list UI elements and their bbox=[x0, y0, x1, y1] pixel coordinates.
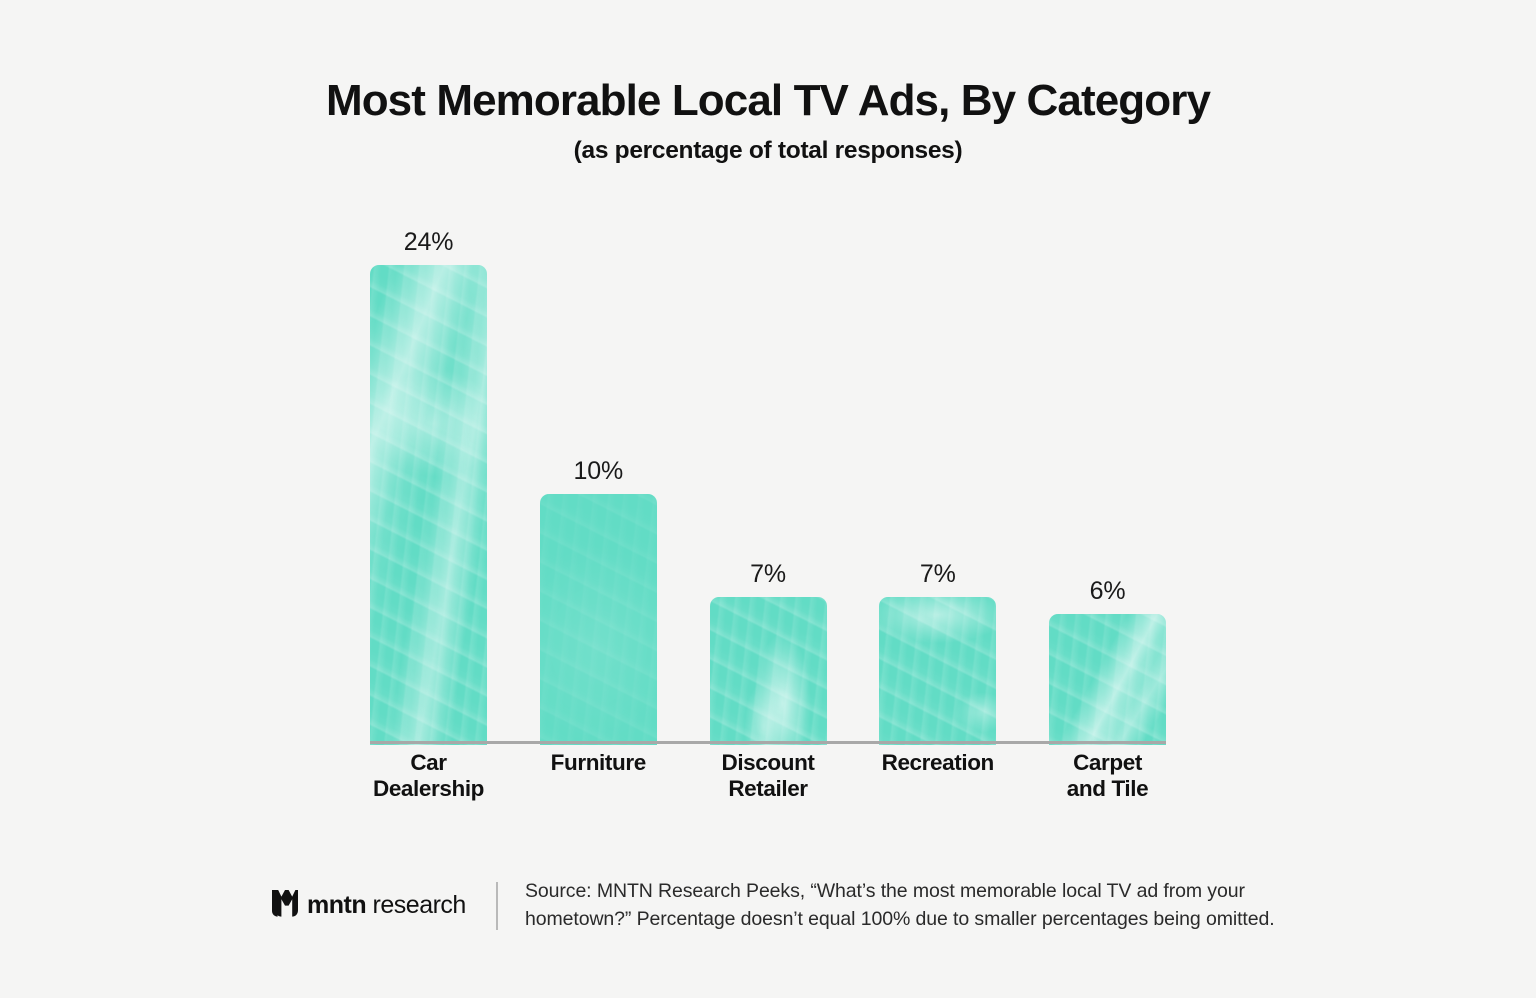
source-note: Source: MNTN Research Peeks, “What’s the… bbox=[525, 878, 1325, 933]
bar-slot-discount-retailer: 7% bbox=[710, 200, 827, 745]
bar-value-label: 6% bbox=[1049, 577, 1166, 606]
chart-header: Most Memorable Local TV Ads, By Category… bbox=[0, 78, 1536, 165]
bar-value-label: 24% bbox=[370, 228, 487, 257]
bar-slot-carpet-and-tile: 6% bbox=[1049, 200, 1166, 745]
logo-wordmark-bold: mntn bbox=[307, 891, 366, 919]
chart-footer: mntn research Source: MNTN Research Peek… bbox=[272, 878, 1332, 933]
bar-value-label: 7% bbox=[879, 560, 996, 589]
bar-slot-recreation: 7% bbox=[879, 200, 996, 745]
bar-slot-car-dealership: 24% bbox=[370, 200, 487, 745]
category-label-recreation: Recreation bbox=[879, 750, 996, 802]
bar-furniture[interactable] bbox=[540, 494, 657, 745]
page-title: Most Memorable Local TV Ads, By Category bbox=[0, 78, 1536, 125]
category-label-carpet-and-tile: Carpet and Tile bbox=[1049, 750, 1166, 802]
plot-area: 24% 10% 7% 7% 6% bbox=[370, 200, 1166, 745]
x-axis-line bbox=[370, 741, 1166, 744]
bar-slot-furniture: 10% bbox=[540, 200, 657, 745]
category-label-car-dealership: Car Dealership bbox=[370, 750, 487, 802]
category-label-furniture: Furniture bbox=[540, 750, 657, 802]
category-label-discount-retailer: Discount Retailer bbox=[710, 750, 827, 802]
footer-divider bbox=[496, 882, 498, 930]
mntn-research-logo: mntn research bbox=[272, 890, 472, 922]
bar-value-label: 7% bbox=[710, 560, 827, 589]
logo-wordmark-light: research bbox=[366, 891, 466, 919]
chart-page: Most Memorable Local TV Ads, By Category… bbox=[0, 0, 1536, 998]
chart-subtitle: (as percentage of total responses) bbox=[0, 137, 1536, 165]
bars-row: 24% 10% 7% 7% 6% bbox=[370, 200, 1166, 745]
bar-car-dealership[interactable] bbox=[370, 265, 487, 745]
bar-carpet-and-tile[interactable] bbox=[1049, 614, 1166, 745]
bar-value-label: 10% bbox=[540, 457, 657, 486]
bar-discount-retailer[interactable] bbox=[710, 597, 827, 745]
mntn-m-icon bbox=[272, 890, 298, 922]
category-labels: Car Dealership Furniture Discount Retail… bbox=[370, 750, 1166, 802]
logo-wordmark: mntn research bbox=[307, 891, 466, 920]
bar-recreation[interactable] bbox=[879, 597, 996, 745]
